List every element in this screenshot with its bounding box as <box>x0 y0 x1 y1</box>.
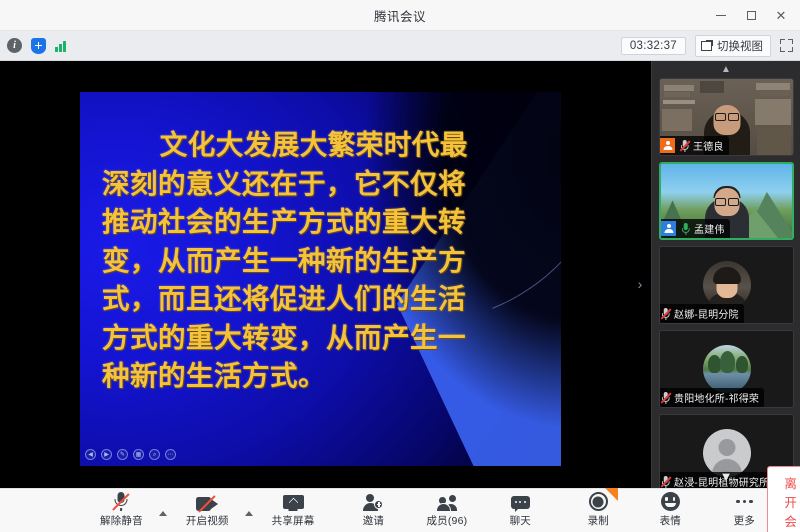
meeting-toolbar: 解除静音 开启视频 共享屏幕 邀请 成员(96) <box>0 488 800 532</box>
participant-label: 孟建伟 <box>661 219 730 238</box>
start-video-label: 开启视频 <box>186 513 229 528</box>
free-ribbon-badge <box>605 488 618 501</box>
next-slide-icon[interactable]: ▶ <box>101 449 112 460</box>
avatar <box>703 261 751 309</box>
prev-slide-icon[interactable]: ◀ <box>85 449 96 460</box>
title-bar: 腾讯会议 ✕ <box>0 0 800 31</box>
share-screen-label: 共享屏幕 <box>272 513 315 528</box>
collapse-panel-arrow[interactable]: › <box>633 269 647 299</box>
record-button[interactable]: 录制 <box>575 491 621 530</box>
participant-label: 王德良 <box>660 136 729 155</box>
participant-label: 赵娜-昆明分院 <box>660 304 744 323</box>
chat-label: 聊天 <box>510 513 531 528</box>
info-icon[interactable]: i <box>7 38 22 53</box>
more-icon <box>736 491 753 511</box>
slide-line: 式，而且还将促进人们的生活 <box>102 283 466 315</box>
fullscreen-icon[interactable] <box>780 39 793 52</box>
participant-name: 王德良 <box>693 138 724 153</box>
slide-line: 方式的重大转变，从而产生一 <box>102 322 466 354</box>
chat-icon <box>511 491 530 511</box>
invite-label: 邀请 <box>363 513 384 528</box>
scroll-down-arrow[interactable]: ▼ <box>720 469 733 484</box>
participant-name: 赵娜-昆明分院 <box>674 306 739 321</box>
members-icon <box>436 491 457 511</box>
shared-content-stage: 文化大发展大繁荣时代最 深刻的意义还在于，它不仅将 推动社会的生产方式的重大转 … <box>0 61 651 488</box>
record-icon <box>589 491 608 511</box>
toolbar-buttons: 解除静音 开启视频 共享屏幕 邀请 成员(96) <box>96 491 767 530</box>
slide-text: 文化大发展大繁荣时代最 深刻的意义还在于，它不仅将 推动社会的生产方式的重大转 … <box>102 126 545 396</box>
window-controls: ✕ <box>706 0 796 31</box>
slide-line: 推动社会的生产方式的重大转 <box>102 206 466 238</box>
self-badge-icon <box>661 221 676 236</box>
unmute-label: 解除静音 <box>100 513 143 528</box>
invite-icon <box>363 491 383 511</box>
mic-muted-icon <box>114 491 129 511</box>
presentation-slide[interactable]: 文化大发展大繁荣时代最 深刻的意义还在于，它不仅将 推动社会的生产方式的重大转 … <box>80 92 561 466</box>
participant-panel: ▲ 王德良 <box>651 61 800 488</box>
more-options-icon[interactable]: ⋯ <box>165 449 176 460</box>
avatar <box>703 345 751 393</box>
participant-label: 贵阳地化所-祁得荣 <box>660 388 764 407</box>
participant-name: 孟建伟 <box>694 221 725 236</box>
slide-line: 变，从而产生一种新的生产方 <box>102 245 466 277</box>
slide-line: 深刻的意义还在于，它不仅将 <box>102 168 466 200</box>
pen-icon[interactable]: ✎ <box>117 449 128 460</box>
emoji-label: 表情 <box>660 513 681 528</box>
camera-off-icon <box>196 491 218 511</box>
audio-options-caret-icon[interactable] <box>159 511 167 516</box>
window-layout-icon <box>701 40 713 51</box>
meeting-timer: 03:32:37 <box>621 37 686 55</box>
switch-view-button[interactable]: 切换视图 <box>695 35 771 57</box>
status-bar-right: 03:32:37 切换视图 <box>621 35 793 57</box>
unmute-button[interactable]: 解除静音 <box>96 491 147 530</box>
participant-tile[interactable]: 赵娜-昆明分院 <box>659 246 794 324</box>
mic-active-icon <box>680 222 691 235</box>
more-label: 更多 <box>734 513 755 528</box>
shield-icon[interactable] <box>31 38 46 54</box>
members-button[interactable]: 成员(96) <box>422 491 471 530</box>
glasses-decor <box>715 113 739 119</box>
host-badge-icon <box>660 138 675 153</box>
leave-meeting-button[interactable]: 离开会议 <box>767 466 800 532</box>
signal-icon[interactable] <box>55 39 66 52</box>
maximize-icon[interactable] <box>736 3 766 29</box>
glasses-decor <box>715 198 739 204</box>
slides-overview-icon[interactable]: ▦ <box>133 449 144 460</box>
chat-button[interactable]: 聊天 <box>497 491 543 530</box>
presenter-controls: ◀ ▶ ✎ ▦ ⌕ ⋯ <box>85 449 176 460</box>
emoji-button[interactable]: 表情 <box>647 491 693 530</box>
switch-view-label: 切换视图 <box>717 38 763 54</box>
participant-tile[interactable]: 王德良 <box>659 78 794 156</box>
members-label: 成员(96) <box>426 513 467 528</box>
meeting-status-bar: i 03:32:37 切换视图 <box>0 31 800 61</box>
record-label: 录制 <box>588 513 609 528</box>
video-options-caret-icon[interactable] <box>245 511 253 516</box>
zoom-icon[interactable]: ⌕ <box>149 449 160 460</box>
emoji-icon <box>661 491 680 511</box>
mic-muted-icon <box>679 139 690 152</box>
share-screen-button[interactable]: 共享屏幕 <box>268 491 319 530</box>
share-screen-icon <box>283 491 304 511</box>
start-video-button[interactable]: 开启视频 <box>182 491 233 530</box>
scroll-up-arrow[interactable]: ▲ <box>659 61 793 78</box>
close-icon[interactable]: ✕ <box>766 3 796 29</box>
mic-muted-icon <box>660 391 671 404</box>
participant-tile[interactable]: 孟建伟 <box>659 162 794 240</box>
invite-button[interactable]: 邀请 <box>350 491 396 530</box>
mic-muted-icon <box>660 475 671 488</box>
minimize-icon[interactable] <box>706 3 736 29</box>
window-title: 腾讯会议 <box>374 6 426 25</box>
participant-tile[interactable]: 贵阳地化所-祁得荣 <box>659 330 794 408</box>
status-icons: i <box>7 38 66 54</box>
slide-line: 种新的生活方式。 <box>102 360 326 392</box>
participant-name: 贵阳地化所-祁得荣 <box>674 390 759 405</box>
mic-muted-icon <box>660 307 671 320</box>
slide-line: 文化大发展大繁荣时代最 <box>160 129 468 161</box>
more-button[interactable]: 更多 <box>721 491 767 530</box>
